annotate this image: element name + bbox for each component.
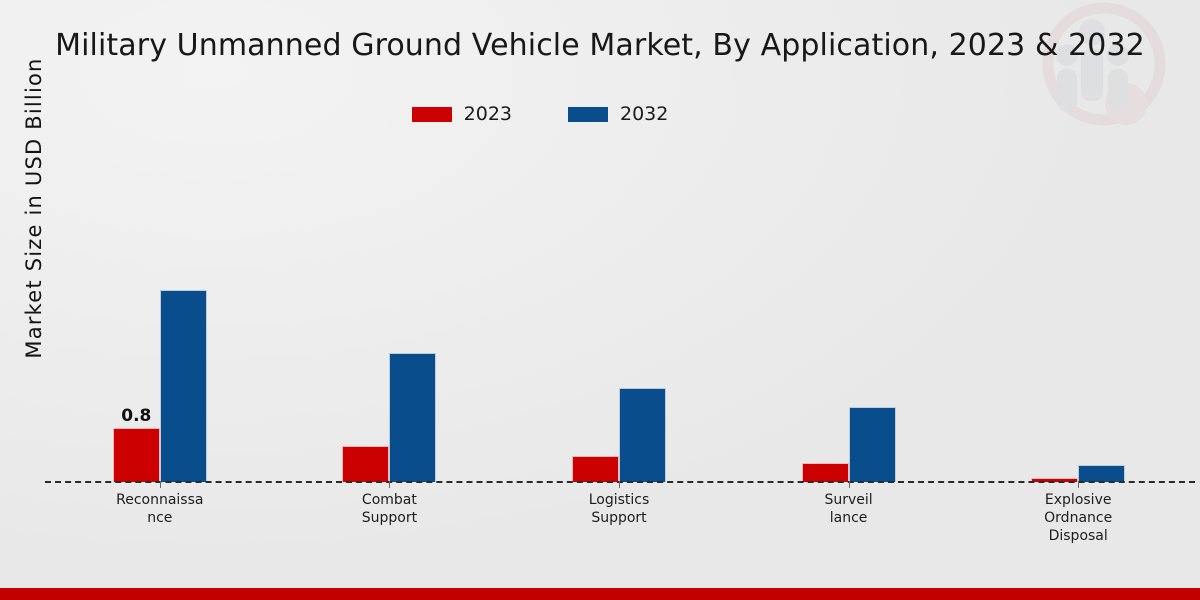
plot-area: 0.8 [45, 140, 1193, 482]
bar-2023-2[interactable] [342, 446, 389, 482]
legend-label-2032: 2032 [620, 103, 668, 125]
x-axis-label-2: CombatSupport [314, 491, 464, 527]
bar-2032-1[interactable] [160, 290, 207, 482]
chart-title: Military Unmanned Ground Vehicle Market,… [0, 28, 1200, 63]
bar-group [734, 407, 964, 482]
bar-2032-4[interactable] [849, 407, 896, 482]
x-axis-tick [160, 481, 161, 488]
x-axis-baseline [45, 481, 1195, 483]
bar-2032-5[interactable] [1078, 465, 1125, 482]
legend-label-2023: 2023 [464, 103, 512, 125]
chart-container: Military Unmanned Ground Vehicle Market,… [0, 0, 1200, 600]
x-axis-tick [389, 481, 390, 488]
y-axis-title: Market Size in USD Billion [22, 0, 46, 418]
legend-swatch-2032 [568, 107, 608, 122]
bar-2032-2[interactable] [389, 353, 436, 482]
bar-value-label: 0.8 [121, 406, 151, 426]
bar-2023-1[interactable]: 0.8 [113, 428, 160, 482]
x-axis-tick [1078, 481, 1079, 488]
x-axis-label-3: LogisticsSupport [544, 491, 694, 527]
bar-group [504, 388, 734, 482]
bar-group [275, 353, 505, 482]
x-axis-tick [849, 481, 850, 488]
bar-2023-4[interactable] [802, 463, 849, 482]
legend-swatch-2023 [412, 107, 452, 122]
legend-item-2032[interactable]: 2032 [568, 103, 668, 125]
legend-item-2023[interactable]: 2023 [412, 103, 512, 125]
chart-legend: 2023 2032 [0, 103, 1200, 125]
bar-2032-3[interactable] [619, 388, 666, 482]
x-axis-label-5: ExplosiveOrdnanceDisposal [1003, 491, 1153, 545]
x-axis-tick [619, 481, 620, 488]
bar-group: 0.8 [45, 290, 275, 482]
footer-accent-bar [0, 588, 1200, 600]
x-axis-label-4: Surveillance [774, 491, 924, 527]
bar-group [963, 465, 1193, 482]
x-axis-label-1: Reconnaissance [85, 491, 235, 527]
bar-2023-3[interactable] [572, 456, 619, 482]
